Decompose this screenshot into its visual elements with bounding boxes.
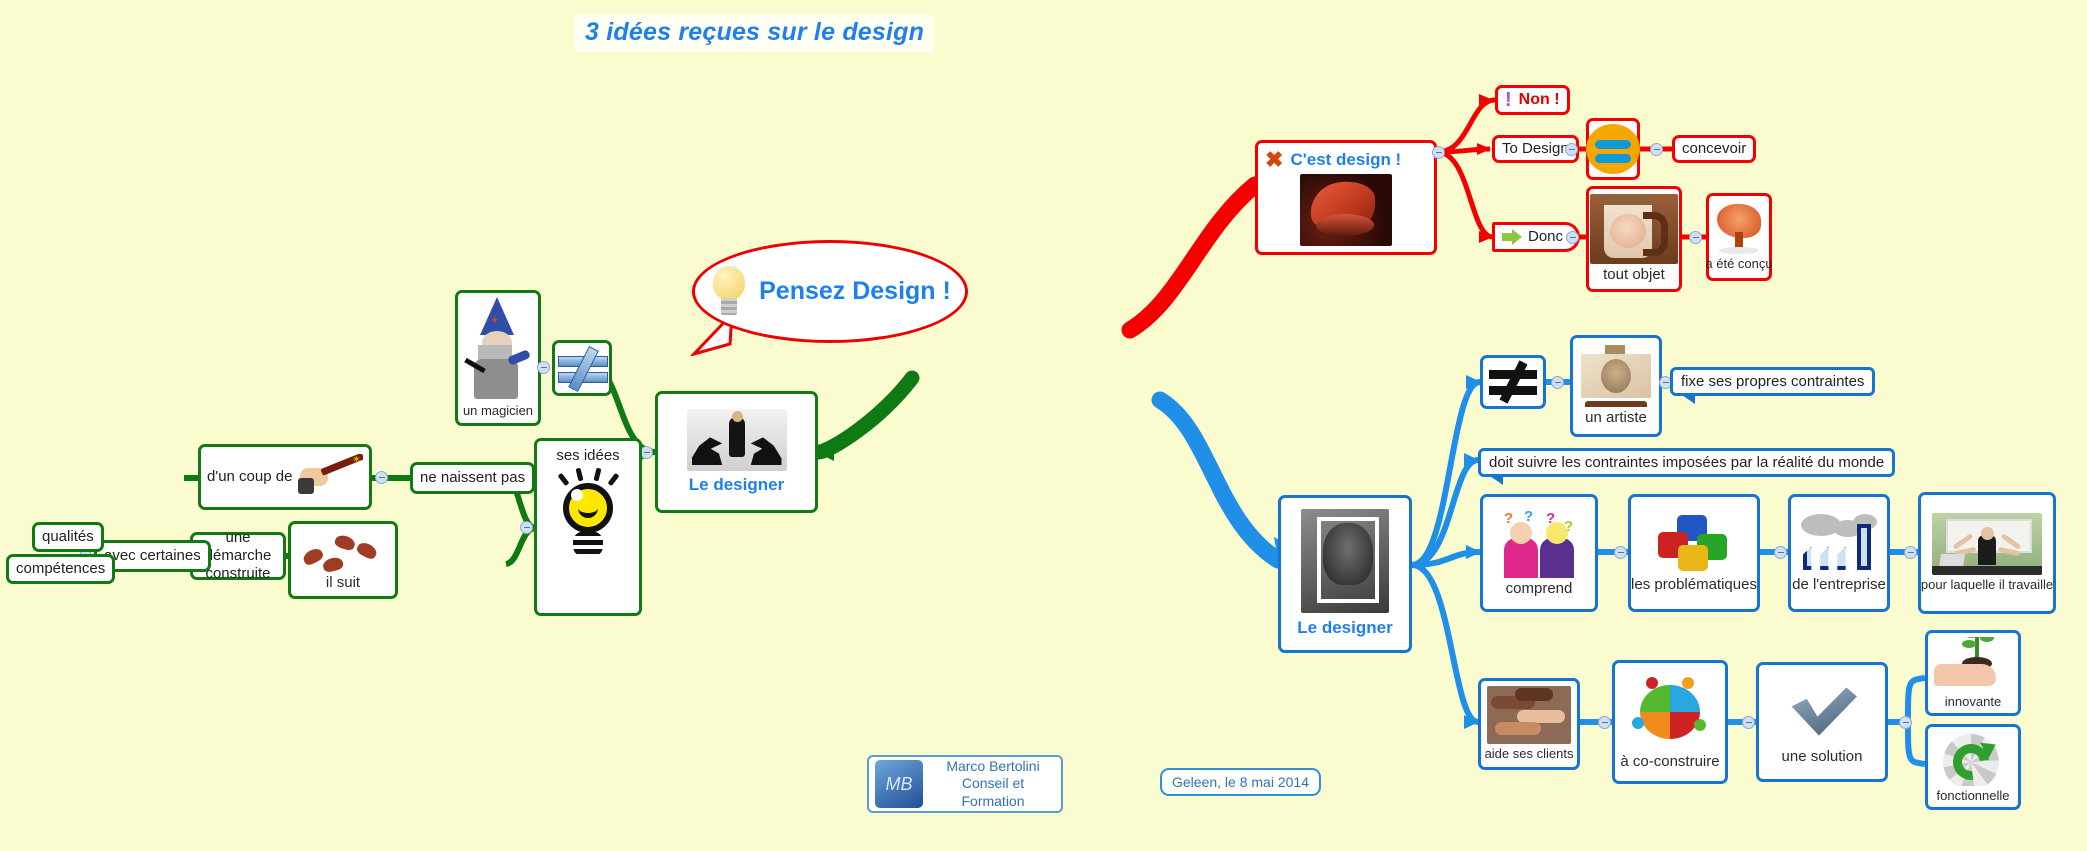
node-pour-laquelle-label: pour laquelle il travaille [1921, 577, 2053, 592]
node-coup-de-baguette-label: d'un coup de [207, 468, 292, 486]
node-co-construire[interactable]: à co-construire [1612, 660, 1728, 784]
mindmap-canvas: 3 idées reçues sur le design Pensez Desi… [0, 0, 2087, 851]
puzzle-team-illustration [1624, 673, 1716, 751]
collapse-dot-cest-design[interactable] [1432, 146, 1445, 159]
da-vinci-portrait [1575, 345, 1657, 407]
node-coup-de-baguette[interactable]: d'un coup de ✶ [198, 444, 372, 510]
node-a-ete-concu-label: a été conçu [1705, 256, 1772, 271]
red-chair-photo [1300, 174, 1392, 246]
node-fonctionnelle-label: fonctionnelle [1937, 788, 2010, 803]
node-competences-label: compétences [16, 560, 105, 578]
confused-people-clipart: ? ? ? ? [1500, 508, 1578, 578]
node-comprend-label: comprend [1506, 580, 1573, 598]
collapse-dot-co-construire[interactable] [1742, 716, 1755, 729]
collapse-dot-problematiques[interactable] [1774, 546, 1787, 559]
node-innovante[interactable]: innovante [1925, 630, 2021, 716]
node-donc-label: Donc [1528, 228, 1563, 246]
callout-tail [1679, 393, 1695, 404]
multitasking-woman-photo [1932, 513, 2042, 575]
purple-exclamation-icon: ! [1505, 90, 1512, 110]
green-arrow-icon [1502, 229, 1522, 245]
node-aide-ses-clients-label: aide ses clients [1485, 746, 1574, 761]
node-entreprise[interactable]: de l'entreprise [1788, 494, 1890, 612]
node-non-label: Non ! [1519, 91, 1560, 110]
callout-contraintes-reelles[interactable]: doit suivre les contraintes imposées par… [1478, 448, 1895, 477]
node-to-design-label: To Design [1502, 140, 1569, 158]
node-le-designer-right[interactable]: Le designer [1278, 495, 1412, 653]
node-not-equal-blue[interactable] [1480, 355, 1546, 409]
place-date-badge: Geleen, le 8 mai 2014 [1160, 768, 1321, 796]
node-co-construire-label: à co-construire [1620, 753, 1719, 771]
not-equal-icon [1487, 362, 1539, 402]
node-un-artiste-label: un artiste [1585, 409, 1647, 427]
collapse-dot-magicien[interactable] [537, 361, 550, 374]
node-tout-objet-label: tout objet [1603, 266, 1665, 284]
node-ne-naissent-pas[interactable]: ne naissent pas [410, 462, 535, 494]
page-title: 3 idées reçues sur le design [575, 15, 934, 52]
node-tout-objet[interactable]: tout objet [1586, 186, 1682, 292]
node-comprend[interactable]: ? ? ? ? comprend [1480, 494, 1598, 612]
joined-hands-photo [1487, 686, 1571, 744]
magician-clipart: ✦ [460, 297, 536, 401]
node-un-magicien[interactable]: ✦ un magicien [455, 290, 541, 426]
gear-refresh-icon [1937, 731, 2009, 786]
collapse-dot-donc[interactable] [1566, 231, 1579, 244]
node-cest-design-label: C'est design ! [1290, 150, 1401, 170]
collapse-dot-tout-objet[interactable] [1689, 231, 1702, 244]
node-innovante-label: innovante [1945, 694, 2001, 709]
hand-holding-sprout [1930, 637, 2016, 692]
magic-wand-hand: ✶ [298, 454, 363, 500]
face-mug-photo [1590, 194, 1678, 264]
man-thinking-photo [1301, 509, 1389, 613]
not-equal-icon-blue [556, 348, 608, 388]
signature-role-2: Formation [931, 793, 1055, 811]
footprints-image [301, 528, 385, 572]
node-qualites-label: qualités [42, 528, 94, 546]
signature-initials: MB [875, 760, 923, 808]
collapse-dot-entreprise[interactable] [1904, 546, 1917, 559]
node-competences[interactable]: compétences [6, 554, 115, 584]
callout-fixe-contraintes-label: fixe ses propres contraintes [1681, 373, 1864, 390]
node-concevoir-label: concevoir [1682, 140, 1746, 158]
node-aide-ses-clients[interactable]: aide ses clients [1478, 678, 1580, 770]
callout-fixe-contraintes[interactable]: fixe ses propres contraintes [1670, 367, 1875, 396]
node-ses-idees-label: ses idées [556, 447, 619, 465]
blue-checkmark-icon [1774, 678, 1870, 746]
node-le-designer-left-label: Le designer [689, 475, 784, 495]
node-entreprise-label: de l'entreprise [1792, 576, 1886, 594]
collapse-dot-neq[interactable] [1551, 376, 1564, 389]
callout-tail-2 [1487, 474, 1503, 485]
node-qualites[interactable]: qualités [32, 522, 104, 552]
node-cest-design[interactable]: ✖ C'est design ! [1255, 140, 1437, 255]
node-avec-certaines-label: avec certaines [104, 547, 201, 565]
node-le-designer-right-label: Le designer [1297, 618, 1392, 638]
collapse-dot-solution[interactable] [1899, 716, 1912, 729]
lightbulb-icon [709, 266, 749, 318]
node-il-suit-label: il suit [326, 574, 360, 592]
node-non[interactable]: ! Non ! [1495, 85, 1570, 115]
designer-with-chairs-photo [687, 409, 787, 471]
signature-card[interactable]: MB Marco Bertolini Conseil et Formation [867, 755, 1063, 813]
red-x-icon: ✖ [1265, 149, 1283, 171]
signature-lines: Marco Bertolini Conseil et Formation [931, 758, 1055, 811]
node-not-equal-green[interactable] [552, 340, 612, 396]
node-a-ete-concu[interactable]: a été conçu [1706, 193, 1772, 281]
smiling-lightbulb-icon [551, 469, 625, 561]
node-fonctionnelle[interactable]: fonctionnelle [1925, 724, 2021, 810]
collapse-dot-to-design[interactable] [1565, 143, 1578, 156]
equals-icon [1586, 124, 1640, 174]
signature-name: Marco Bertolini [931, 758, 1055, 776]
node-une-solution-label: une solution [1782, 748, 1863, 766]
factory-icon [1797, 512, 1881, 574]
central-node[interactable]: Pensez Design ! [692, 240, 968, 343]
collapse-dot-ses-idees[interactable] [520, 521, 533, 534]
node-equals[interactable] [1586, 118, 1640, 180]
node-ne-naissent-pas-label: ne naissent pas [420, 469, 525, 487]
central-node-label: Pensez Design ! [759, 277, 951, 306]
orange-tree-head-image [1709, 202, 1769, 254]
collapse-dot-aide[interactable] [1598, 716, 1611, 729]
node-un-artiste[interactable]: un artiste [1570, 335, 1662, 437]
node-un-magicien-label: un magicien [463, 403, 533, 418]
node-une-solution[interactable]: une solution [1756, 662, 1888, 782]
node-problematiques[interactable]: les problématiques [1628, 494, 1760, 612]
collapse-dot-equals[interactable] [1650, 143, 1663, 156]
callout-contraintes-reelles-label: doit suivre les contraintes imposées par… [1489, 454, 1884, 471]
collapse-dot-ne-naissent[interactable] [375, 471, 388, 484]
node-ses-idees[interactable]: ses idées [534, 438, 642, 616]
colored-puzzle-pieces [1655, 512, 1733, 574]
node-le-designer-left[interactable]: Le designer [655, 391, 818, 513]
collapse-dot-comprend[interactable] [1614, 546, 1627, 559]
signature-role-1: Conseil et [931, 775, 1055, 793]
node-pour-laquelle[interactable]: pour laquelle il travaille [1918, 492, 2056, 614]
node-problematiques-label: les problématiques [1631, 576, 1757, 594]
node-concevoir[interactable]: concevoir [1672, 135, 1756, 163]
node-il-suit[interactable]: il suit [288, 521, 398, 599]
